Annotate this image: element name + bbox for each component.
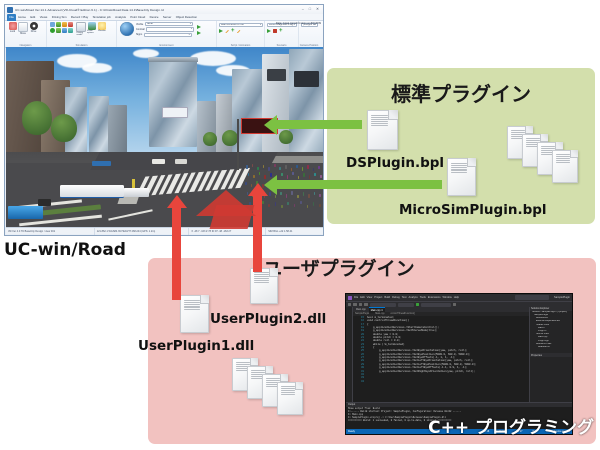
weather-button[interactable]: Weather [98,22,107,32]
car-blue [8,206,43,219]
look-button-label: Look [10,30,15,33]
look-button[interactable]: Look [8,22,17,33]
vs-menu-view[interactable]: View [367,296,373,299]
ucwin-road-label: UC-win/Road [4,240,126,260]
microsimplugin-document-icon[interactable] [447,158,476,196]
signs-combo[interactable]: ▾ [144,33,192,37]
building-billboard [162,107,188,118]
building-sign [294,71,319,87]
dsplugin-document-icon[interactable] [367,110,398,150]
sun-icon [98,22,106,30]
line-number: 34 [353,380,364,383]
close-button[interactable]: ✕ [316,8,319,12]
vs-status-ready: Ready [348,430,355,433]
standard-plugin-panel: 標準プラグイン DSPlugin.bpl MicroSimPlugin.bpl [327,68,595,224]
vs-project-name: SamplePlugin [554,296,570,299]
breadcrumb-file[interactable]: Main.cpp [375,313,384,315]
contrail-combo[interactable]: ▾ [146,27,194,31]
plus-circle-icon[interactable] [50,28,55,33]
add-scenario-button[interactable]: + [279,29,283,34]
bus [60,185,124,199]
green-arrow-dsplugin [277,120,362,129]
driving-model-button[interactable]: Driving model [77,22,86,36]
tab-analysis[interactable]: Analysis [113,14,128,21]
edit-pencil-icon[interactable] [237,29,241,33]
red-perspective-arrow-body [210,205,255,229]
vs-tab-inactive[interactable]: Main.cpp [354,307,368,312]
app-statusbar: VR-Ver 4.0 Hz BaseCity Design / view 001… [6,227,324,234]
ribbon-group-simulation: Driving model Visual options Weather Sim… [47,21,117,47]
dsplugin-label: DSPlugin.bpl [346,155,444,171]
chart-red-icon[interactable] [68,22,73,27]
solution-item[interactable]: ReadMe.txt [530,346,572,349]
tab-simulation-job[interactable]: Simulation job [90,14,113,21]
diagram-canvas: UC-win/Road Ver.14.1 Advanced (VR-Cloud®… [0,0,600,450]
vs-menu-test[interactable]: Test [402,296,407,299]
status-cell-view: VR-Ver 4.0 Hz BaseCity Design / view 001 [6,228,95,235]
window-controls[interactable]: – □ ✕ [302,8,319,12]
visual-studio-logo-icon [348,296,352,300]
window-title: UC-win/Road Ver.14.1 Advanced (VR-Cloud®… [15,8,302,12]
building [216,94,232,159]
cpp-programming-caption: C++ プログラミング [428,413,594,438]
drive-button[interactable]: Drive [29,22,38,33]
visual-options-label: Visual options [87,30,96,34]
building [89,96,110,159]
ribbon-tabstrip[interactable]: File Home Edit Views Driving Sim Record … [5,14,323,21]
vs-menu-build[interactable]: Build [384,296,390,299]
save-icon[interactable] [364,303,367,306]
minimize-button[interactable]: – [302,8,304,12]
new-file-icon[interactable] [359,303,362,306]
chart-green-icon[interactable] [56,22,61,27]
tab-record-play[interactable]: Record / Play [69,14,91,21]
3d-viewport[interactable] [6,47,324,228]
building-main-tower [149,60,197,147]
drive-button-label: Drive [31,30,37,33]
play-scenario-button[interactable] [267,29,271,33]
add-script-button[interactable]: + [231,29,235,34]
maximize-button[interactable]: □ [309,8,311,12]
globe-icon[interactable] [120,22,134,36]
status-cell-sim: SIM BILL +22 1.58.41 [266,228,324,235]
building [197,101,216,159]
arrows-icon[interactable] [50,22,55,27]
compass-icon [9,22,17,30]
ribbon-group-environment: Visible None ▾ Contrail ▾ [117,21,217,47]
startup-combo[interactable] [421,303,451,307]
run-script-button[interactable] [219,29,223,33]
chevron-down-icon: ▾ [260,23,261,27]
properties-header: Properties [530,353,572,357]
play-all-button[interactable] [197,31,201,35]
move-button-label: Move [20,32,26,35]
page-icon [18,22,28,32]
tab-server[interactable]: Server [161,14,174,21]
tab-device[interactable]: Device [147,14,160,21]
visible-combo-value: None [147,22,153,26]
code-line: g_applicationServices->SetRightEyeOrient… [367,370,529,373]
vs-menu-analyze[interactable]: Analyze [409,296,418,299]
contrail-label: Contrail [136,28,145,31]
image-icon [88,22,96,30]
vs-menu-extensions[interactable]: Extensions [428,296,441,299]
app-logo-icon [7,7,13,13]
building [148,57,199,62]
vs-menu-help[interactable]: Help [454,296,459,299]
ribbon-group-navigation: Look Move Drive Navigation [5,21,47,47]
standard-plugin-title: 標準プラグイン [327,78,595,107]
more-icon[interactable] [453,303,456,306]
userplugin2-document-icon[interactable] [250,268,278,304]
tab-home[interactable]: Home [16,14,28,21]
script-combo-value: Main Function of Vie [221,23,244,27]
breadcrumb-member[interactable]: controlThreadFunction() [391,313,416,315]
motorcycle [38,199,51,206]
car [175,159,188,163]
chevron-down-icon: ▾ [190,22,191,26]
green-arrow-microsimplugin [277,180,442,189]
chevron-down-icon: ▾ [189,33,190,37]
signs-label: Signs [136,33,142,36]
building-sign [267,69,286,82]
chart-orange-icon[interactable] [62,22,67,27]
move-button[interactable]: Move [19,22,28,35]
red-arrow-userplugin1 [172,208,181,300]
ribbon-toolbar[interactable]: Look Move Drive Navigation [5,21,323,48]
tab-point-cloud[interactable]: Point Cloud [128,14,147,21]
vs-menu-tools[interactable]: Tools [420,296,426,299]
tree [51,114,77,142]
vs-menu-file[interactable]: File [354,296,358,299]
arrow-head-up [167,195,187,208]
play-button[interactable] [197,25,201,29]
car [124,188,149,197]
tab-views[interactable]: Views [38,14,50,21]
person-icon[interactable] [301,29,305,34]
person-icon[interactable] [307,29,311,34]
back-icon[interactable] [348,303,351,306]
vs-tab-active[interactable]: Main.cpp ✕ [369,307,385,313]
tab-edit[interactable]: Edit [28,14,37,21]
wheel-icon [30,22,38,30]
chart-blue-icon[interactable] [62,28,67,33]
vs-menu-project[interactable]: Project [374,296,382,299]
driving-model-label: Driving model [77,32,86,36]
config-combo[interactable] [370,303,396,307]
edit-pencil-icon[interactable] [225,29,229,33]
tab-driving-sim[interactable]: Driving Sim [50,14,69,21]
tab-object-detection[interactable]: Object Detection [174,14,200,21]
vs-menu-debug[interactable]: Debug [392,296,400,299]
start-debug-icon[interactable] [416,303,419,306]
forward-icon[interactable] [353,303,356,306]
document-icon[interactable] [552,150,578,183]
microsimplugin-label: MicroSimPlugin.bpl [399,202,547,218]
vs-menu-edit[interactable]: Edit [360,296,364,299]
arrow-head-left [264,115,277,135]
building [289,49,324,158]
weather-label: Weather [98,30,106,32]
visual-options-button[interactable]: Visual options [87,22,96,34]
vs-search-input[interactable] [515,295,549,299]
stop-button[interactable] [273,29,277,33]
ribbon-group-script-animation: Main Function of Vie ▾ + Script / Animat… [217,21,265,47]
ribbon-data-label: Data: Great transformation at JDC2009 [276,22,321,25]
breadcrumb-project[interactable]: SamplePlugin [355,313,369,315]
pole [237,119,240,170]
tab-file[interactable]: File [7,14,16,21]
vs-titlebar: File Edit View Project Build Debug Test … [346,294,572,301]
userplugin1-label: UserPlugin1.dll [138,338,254,354]
userplugin1-document-icon[interactable] [180,295,209,333]
userplugin2-label: UserPlugin2.dll [210,311,326,327]
car [92,161,111,166]
car [152,159,165,163]
script-combo[interactable]: Main Function of Vie ▾ [219,23,263,27]
vs-menu-window[interactable]: Window [443,296,452,299]
chart-green2-icon[interactable] [56,28,61,33]
car-icon [76,22,86,32]
chart-teal-icon[interactable] [68,28,73,33]
chevron-down-icon: ▾ [191,27,192,31]
tree [203,132,217,146]
user-plugin-title: ユーザプラグイン [263,254,415,281]
platform-combo[interactable] [398,303,414,307]
tree [22,101,52,135]
visible-combo[interactable]: None ▾ [145,22,193,26]
visible-label: Visible [136,23,143,26]
document-icon[interactable] [277,382,303,415]
